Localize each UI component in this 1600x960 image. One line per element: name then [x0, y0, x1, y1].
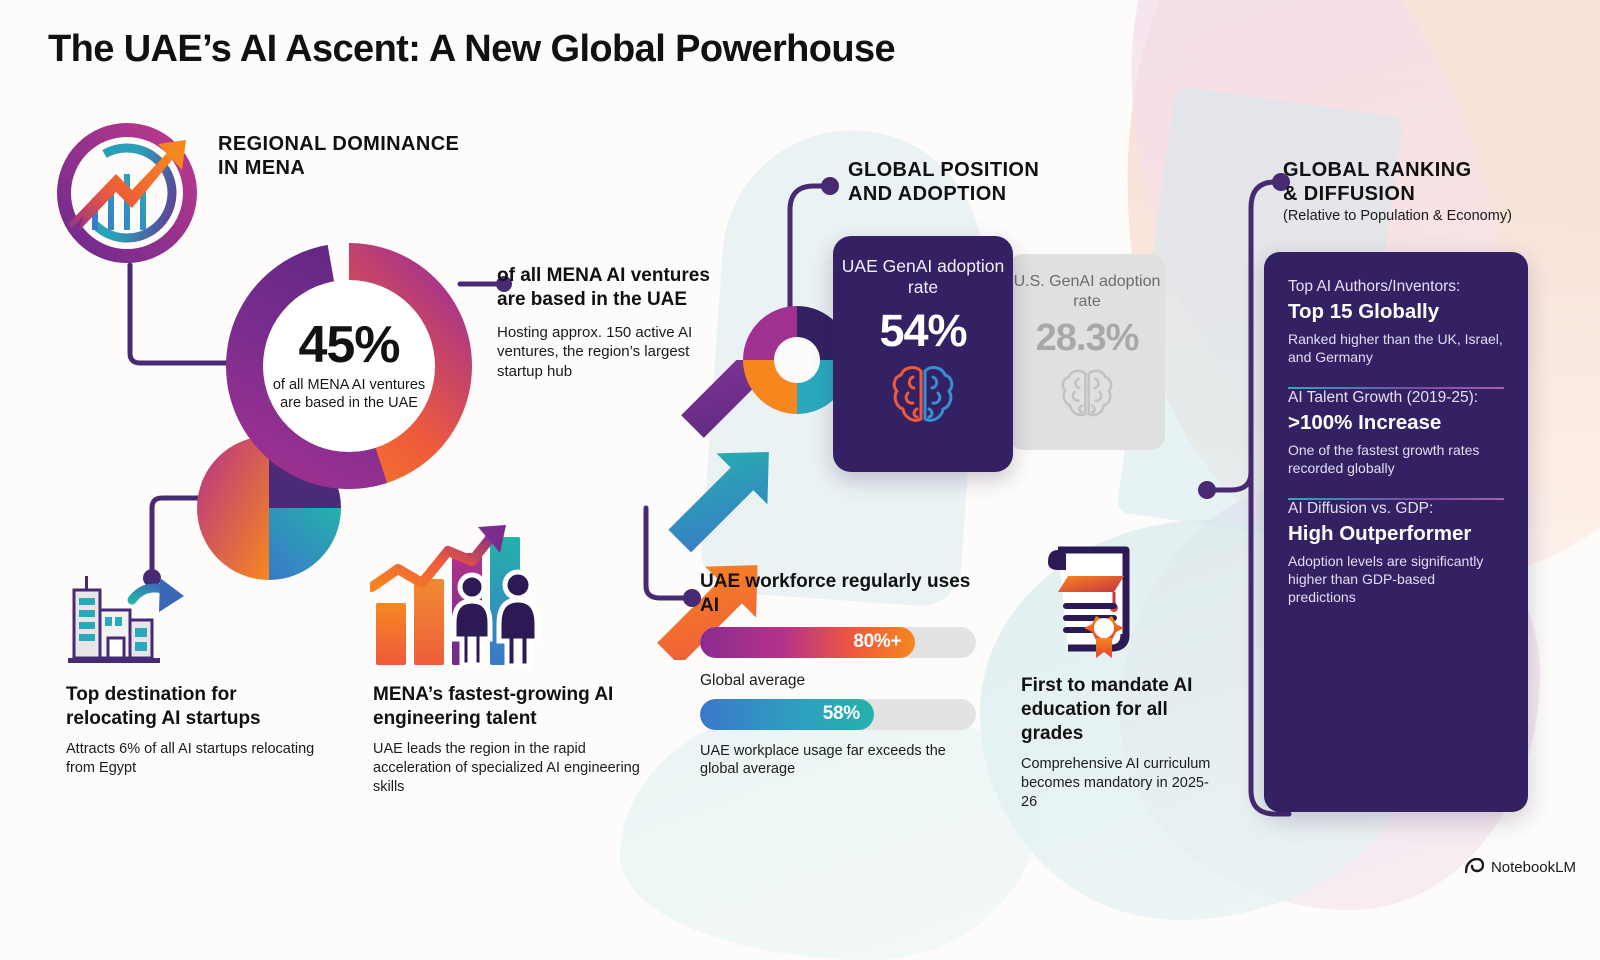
ranking-item-2-value: High Outperformer [1288, 522, 1504, 547]
ranking-item-1: AI Talent Growth (2019-25): >100% Increa… [1288, 389, 1504, 478]
diploma-certificate-icon [1038, 540, 1154, 660]
ranking-item-0-value: Top 15 Globally [1288, 300, 1504, 325]
growth-chart-logo-icon [46, 112, 208, 274]
block-talent: MENA’s fastest-growing AI engineering ta… [373, 683, 653, 796]
workforce-global-label: Global average [700, 672, 980, 690]
heading-ranking-line2: & DIFFUSION [1283, 182, 1512, 206]
talent-heading: MENA’s fastest-growing AI engineering ta… [373, 683, 653, 731]
ranking-item-2-key: AI Diffusion vs. GDP: [1288, 500, 1504, 519]
heading-global-line2: AND ADOPTION [848, 182, 1039, 206]
heading-global-position: GLOBAL POSITION AND ADOPTION [848, 158, 1039, 207]
ranking-item-0: Top AI Authors/Inventors: Top 15 Globall… [1288, 278, 1504, 367]
donut-center-label: 45% of all MENA AI ventures are based in… [263, 280, 435, 452]
card-us-genai-adoption: U.S. GenAI adoption rate 28.3% [1009, 254, 1165, 450]
notebooklm-icon [1465, 858, 1484, 877]
ranking-item-1-key: AI Talent Growth (2019-25): [1288, 389, 1504, 408]
heading-ranking-line1: GLOBAL RANKING [1283, 158, 1512, 182]
ranking-item-2: AI Diffusion vs. GDP: High Outperformer … [1288, 500, 1504, 607]
education-detail: Comprehensive AI curriculum becomes mand… [1021, 755, 1211, 812]
card-us-label: U.S. GenAI adoption rate [1009, 272, 1165, 311]
notebooklm-label: NotebookLM [1491, 859, 1576, 876]
panel-global-ranking: Top AI Authors/Inventors: Top 15 Globall… [1264, 252, 1528, 812]
building-relocation-icon [60, 570, 190, 670]
progress-bar-global: 58% [700, 699, 976, 730]
education-heading: First to mandate AI education for all gr… [1021, 674, 1211, 746]
notebooklm-watermark: NotebookLM [1465, 858, 1576, 877]
brain-icon [1056, 365, 1118, 426]
bar-chart-people-icon [370, 525, 620, 670]
heading-regional-line1: REGIONAL DOMINANCE [218, 132, 459, 156]
brain-icon [886, 361, 960, 432]
donut-caption: of all MENA AI ventures are based in the… [263, 377, 435, 412]
progress-bar-uae: 80%+ [700, 627, 976, 658]
workforce-footnote: UAE workplace usage far exceeds the glob… [700, 742, 980, 780]
ranking-item-2-detail: Adoption levels are significantly higher… [1288, 553, 1504, 607]
talent-detail: UAE leads the region in the rapid accele… [373, 740, 653, 797]
block-relocation: Top destination for relocating AI startu… [66, 683, 316, 778]
page-title: The UAE’s AI Ascent: A New Global Powerh… [48, 28, 895, 71]
relocation-heading: Top destination for relocating AI startu… [66, 683, 316, 731]
callout-mena-ventures: of all MENA AI ventures are based in the… [497, 264, 722, 382]
heading-regional-dominance: REGIONAL DOMINANCE IN MENA [218, 132, 459, 181]
heading-global-ranking: GLOBAL RANKING & DIFFUSION (Relative to … [1283, 158, 1512, 225]
progress-bar-global-fill: 58% [700, 699, 874, 730]
relocation-detail: Attracts 6% of all AI startups relocatin… [66, 740, 316, 778]
card-uae-genai-adoption: UAE GenAI adoption rate 54% [833, 236, 1013, 472]
ranking-item-1-detail: One of the fastest growth rates recorded… [1288, 442, 1504, 478]
block-education: First to mandate AI education for all gr… [1021, 674, 1211, 811]
progress-bar-uae-value: 80%+ [853, 631, 901, 653]
callout-mena-subtitle: Hosting approx. 150 active AI ventures, … [497, 323, 722, 383]
heading-global-line1: GLOBAL POSITION [848, 158, 1039, 182]
donut-value: 45% [298, 319, 399, 371]
workforce-usage-chart: UAE workforce regularly uses AI 80%+ Glo… [700, 570, 980, 779]
progress-bar-uae-fill: 80%+ [700, 627, 915, 658]
card-uae-label: UAE GenAI adoption rate [833, 256, 1013, 299]
ranking-item-1-value: >100% Increase [1288, 411, 1504, 436]
card-uae-value: 54% [879, 308, 966, 353]
callout-mena-title: of all MENA AI ventures are based in the… [497, 264, 722, 312]
ranking-item-0-detail: Ranked higher than the UK, Israel, and G… [1288, 331, 1504, 367]
workforce-heading: UAE workforce regularly uses AI [700, 570, 980, 618]
heading-regional-line2: IN MENA [218, 156, 459, 180]
card-us-value: 28.3% [1036, 319, 1139, 357]
ranking-item-0-key: Top AI Authors/Inventors: [1288, 278, 1504, 297]
infographic-canvas: The UAE’s AI Ascent: A New Global Powerh… [0, 0, 1600, 893]
progress-bar-global-value: 58% [823, 703, 860, 725]
heading-ranking-subheading: (Relative to Population & Economy) [1283, 208, 1512, 226]
mena-ventures-donut-chart: 45% of all MENA AI ventures are based in… [218, 235, 480, 497]
